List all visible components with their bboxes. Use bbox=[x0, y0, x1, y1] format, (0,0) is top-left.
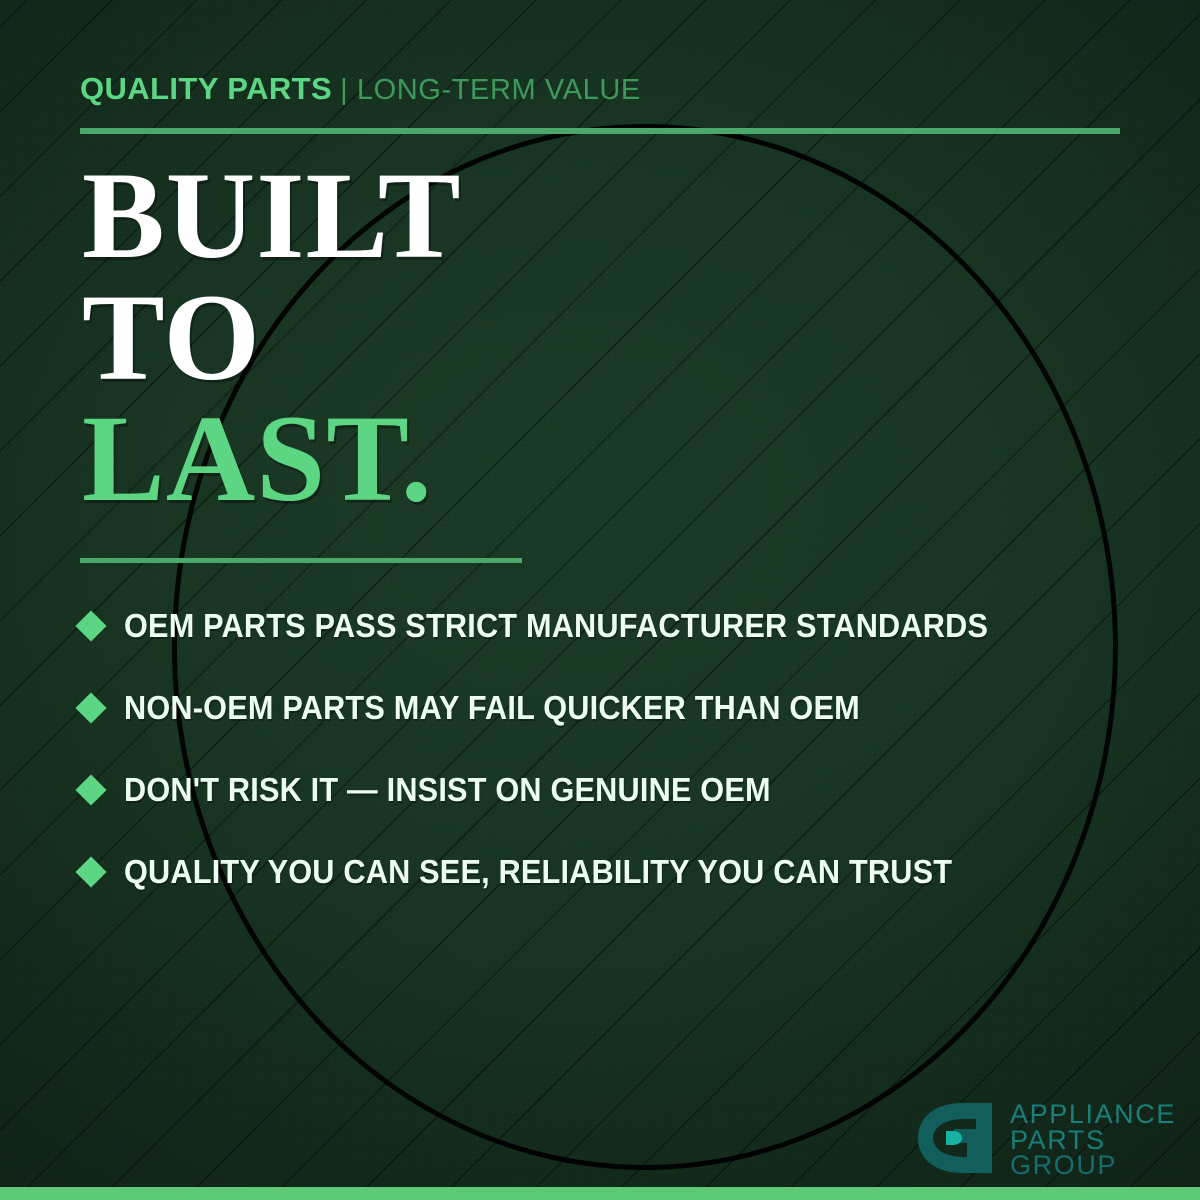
headline-line-3: LAST. bbox=[82, 398, 462, 520]
bullet-label: OEM PARTS PASS STRICT MANUFACTURER STAND… bbox=[124, 607, 988, 645]
list-item: DON'T RISK IT — INSIST ON GENUINE OEM bbox=[80, 749, 1150, 831]
eyebrow-primary: QUALITY PARTS bbox=[80, 71, 332, 106]
bullet-label: QUALITY YOU CAN SEE, RELIABILITY YOU CAN… bbox=[124, 853, 952, 891]
poster-content: QUALITY PARTS| LONG-TERM VALUE BUILT TO … bbox=[0, 0, 1200, 1200]
bullet-list: OEM PARTS PASS STRICT MANUFACTURER STAND… bbox=[80, 585, 1150, 913]
bullet-label: NON-OEM PARTS MAY FAIL QUICKER THAN OEM bbox=[124, 689, 860, 727]
diamond-icon bbox=[75, 856, 106, 887]
g-monogram-icon bbox=[914, 1099, 998, 1182]
eyebrow: QUALITY PARTS| LONG-TERM VALUE bbox=[80, 73, 641, 105]
diamond-icon bbox=[75, 774, 106, 805]
headline: BUILT TO LAST. bbox=[82, 155, 462, 520]
poster-canvas: QUALITY PARTS| LONG-TERM VALUE BUILT TO … bbox=[0, 0, 1200, 1200]
brand-logo-wordmark: APPLIANCE PARTS GROUP bbox=[1010, 1102, 1176, 1180]
bullet-label: DON'T RISK IT — INSIST ON GENUINE OEM bbox=[124, 771, 771, 809]
eyebrow-secondary: | LONG-TERM VALUE bbox=[340, 74, 641, 106]
diamond-icon bbox=[75, 692, 106, 723]
divider-middle bbox=[80, 558, 522, 563]
headline-line-2: TO bbox=[82, 277, 462, 399]
list-item: QUALITY YOU CAN SEE, RELIABILITY YOU CAN… bbox=[80, 831, 1150, 913]
divider-top bbox=[80, 128, 1120, 134]
bottom-accent-bar bbox=[0, 1187, 1200, 1200]
list-item: NON-OEM PARTS MAY FAIL QUICKER THAN OEM bbox=[80, 667, 1150, 749]
brand-logo: APPLIANCE PARTS GROUP bbox=[914, 1099, 1176, 1182]
headline-line-1: BUILT bbox=[82, 155, 462, 277]
diamond-icon bbox=[75, 610, 106, 641]
brand-word-appliance: APPLIANCE bbox=[1010, 1102, 1176, 1128]
brand-word-group: GROUP bbox=[1010, 1153, 1176, 1179]
list-item: OEM PARTS PASS STRICT MANUFACTURER STAND… bbox=[80, 585, 1150, 667]
